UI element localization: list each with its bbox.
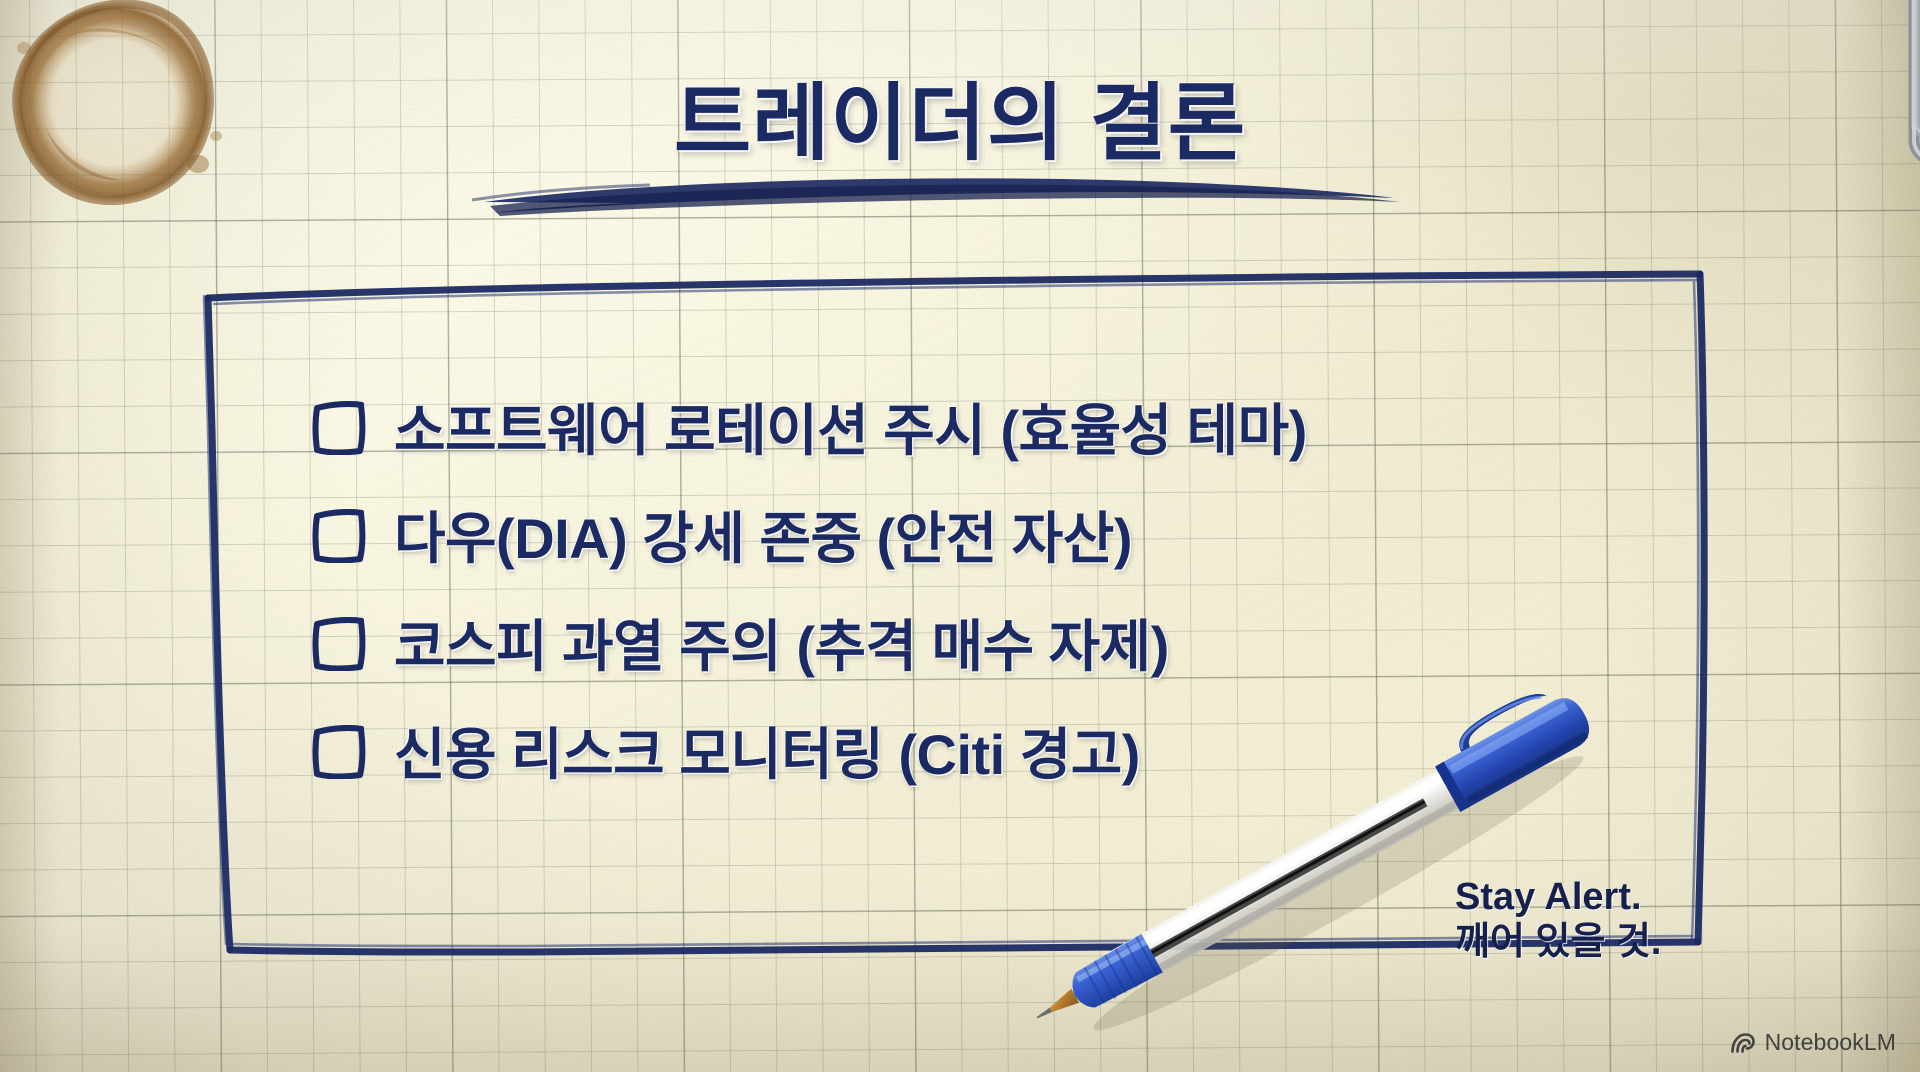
checklist-item[interactable]: 소프트웨어 로테이션 주시 (효율성 테마) [312,372,1562,480]
empty-checkbox-icon[interactable] [312,399,366,455]
notebooklm-watermark: NotebookLM [1730,1029,1896,1056]
note-english-text: Stay Alert. [1455,875,1661,920]
checklist-item[interactable]: 코스피 과열 주의 (추격 매수 자제) [312,588,1562,696]
checklist-item[interactable]: 다우(DIA) 강세 존중 (안전 자산) [312,480,1562,588]
empty-checkbox-icon[interactable] [312,615,366,671]
checklist-item-label: 다우(DIA) 강세 존중 (안전 자산) [394,494,1132,575]
note-korean-text: 깨어 있을 것. [1455,920,1661,965]
empty-checkbox-icon[interactable] [312,723,366,779]
checklist-item-label: 신용 리스크 모니터링 (Citi 경고) [394,710,1140,791]
notebooklm-logo-icon [1730,1032,1756,1054]
page-title: 트레이더의 결론 [0,56,1920,177]
stay-alert-note: Stay Alert. 깨어 있을 것. [1455,875,1661,965]
checklist: 소프트웨어 로테이션 주시 (효율성 테마) 다우(DIA) 강세 존중 (안전… [312,372,1562,804]
checklist-item-label: 코스피 과열 주의 (추격 매수 자제) [394,602,1169,683]
watermark-label: NotebookLM [1765,1029,1896,1056]
checklist-item[interactable]: 신용 리스크 모니터링 (Citi 경고) [312,696,1562,804]
slide-canvas: 트레이더의 결론 소프트웨어 로테이션 주시 (효율성 테마) [0,0,1920,1072]
empty-checkbox-icon[interactable] [312,507,366,563]
checklist-item-label: 소프트웨어 로테이션 주시 (효율성 테마) [394,386,1307,467]
